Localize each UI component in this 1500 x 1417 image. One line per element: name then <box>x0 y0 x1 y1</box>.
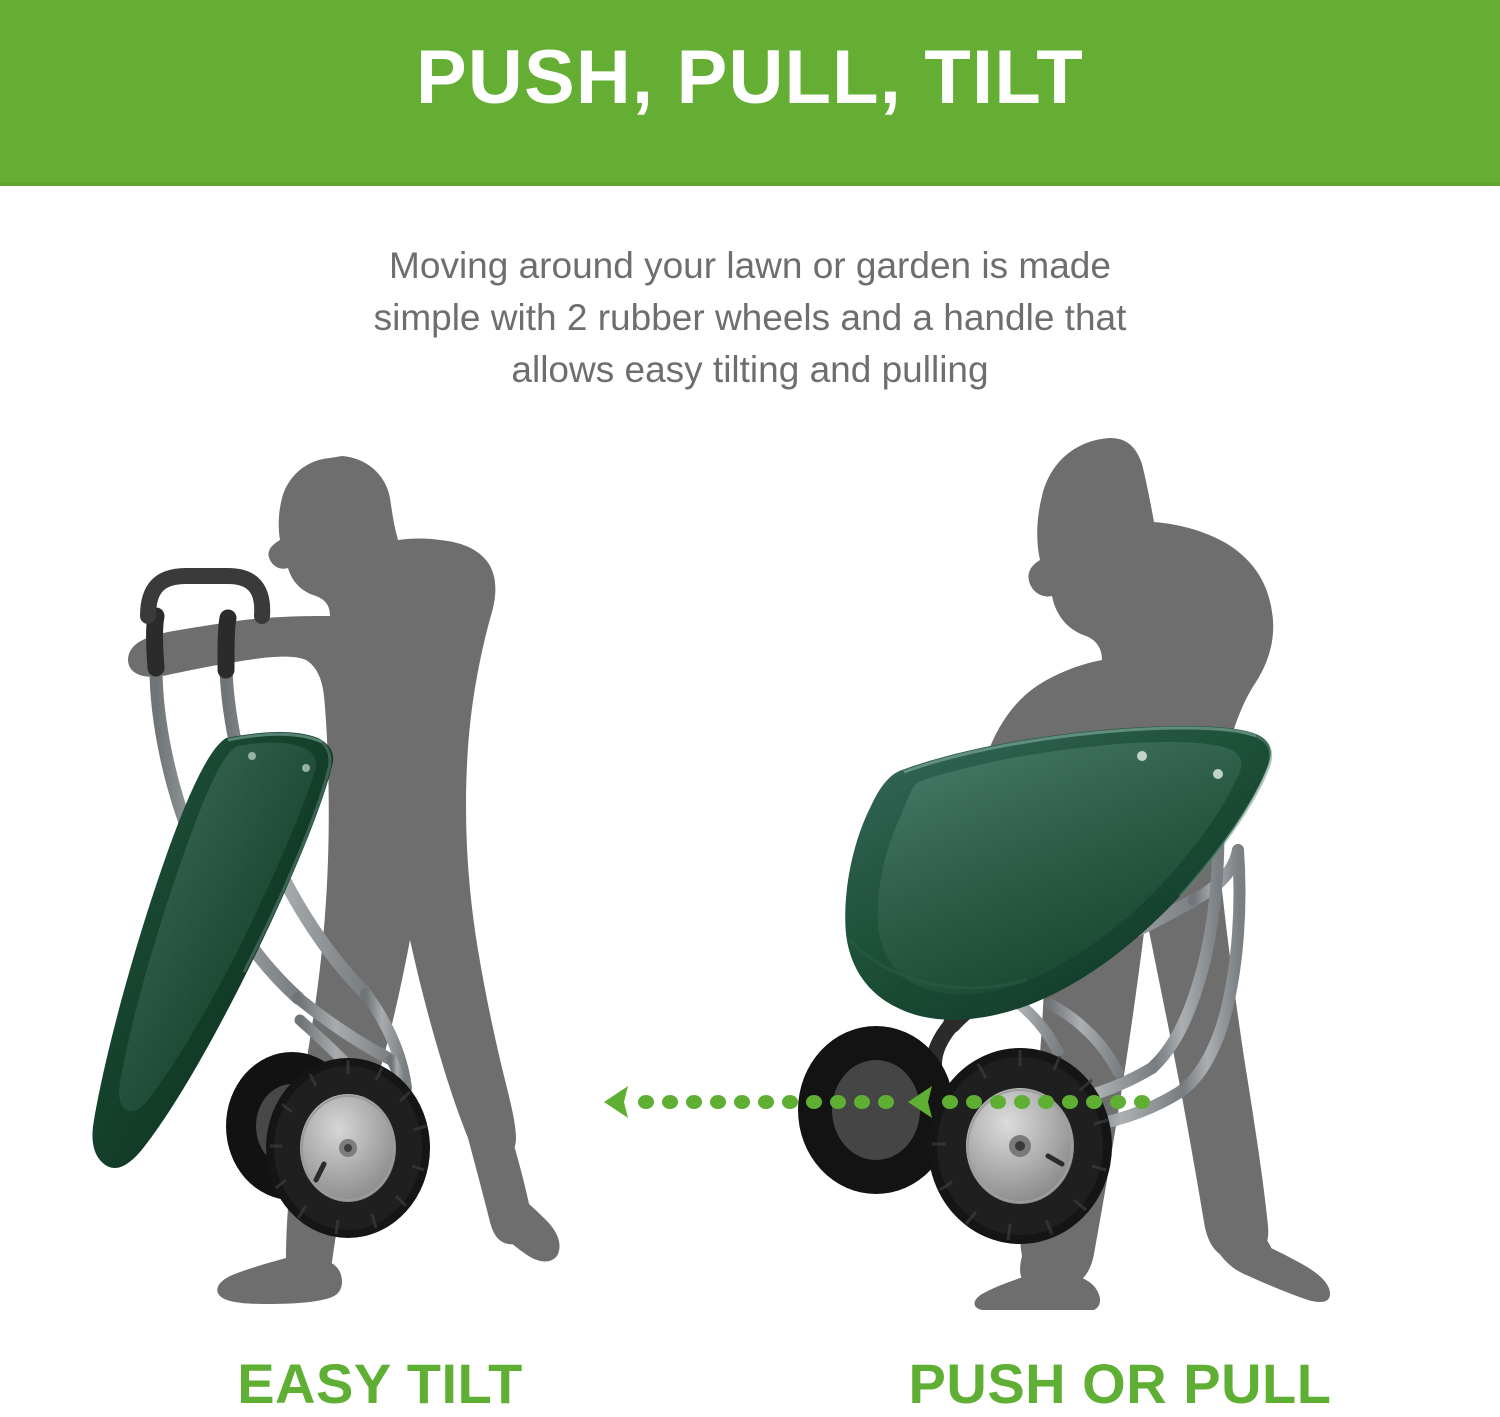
right-illustration <box>690 420 1480 1310</box>
subtitle-line-2: simple with 2 rubber wheels and a handle… <box>250 292 1250 344</box>
top-handle-bar <box>148 576 262 616</box>
wheel-front-right <box>928 1048 1112 1244</box>
arrow-head-left-1 <box>604 1086 628 1118</box>
caption-easy-tilt: EASY TILT <box>100 1352 660 1416</box>
illustration-stage <box>0 420 1500 1310</box>
dotted-motion-arrows <box>600 1080 1160 1124</box>
subtitle-line-1: Moving around your lawn or garden is mad… <box>250 240 1250 292</box>
header-band-bottom-edge <box>0 182 1500 186</box>
subtitle-line-3: allows easy tilting and pulling <box>250 344 1250 396</box>
arrow-head-left-2 <box>908 1086 932 1118</box>
subtitle-block: Moving around your lawn or garden is mad… <box>250 240 1250 396</box>
caption-push-or-pull: PUSH OR PULL <box>830 1352 1410 1416</box>
page-title: PUSH, PULL, TILT <box>0 32 1500 124</box>
product-feature-infographic: PUSH, PULL, TILT Moving around your lawn… <box>0 0 1500 1417</box>
left-illustration <box>30 420 670 1310</box>
wheel-front-left <box>266 1058 430 1238</box>
